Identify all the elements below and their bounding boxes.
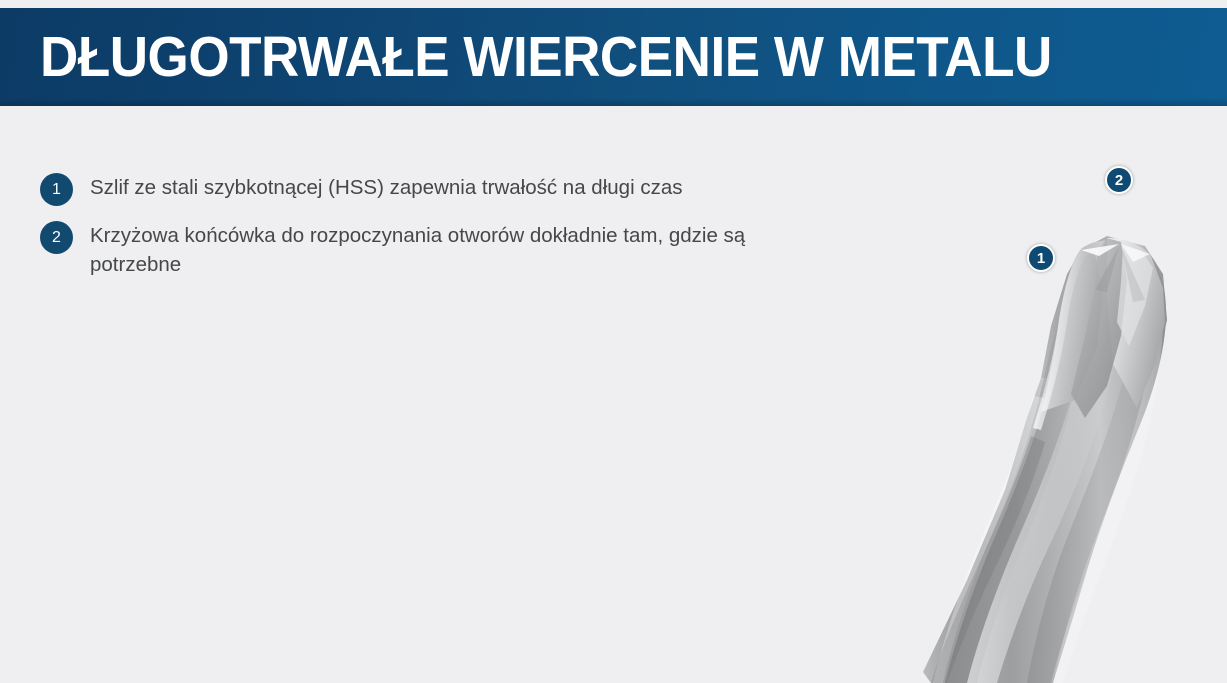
callout-marker-1: 1 <box>1027 244 1055 272</box>
product-feature-banner: DŁUGOTRWAŁE WIERCENIE W METALU 1 Szlif z… <box>0 0 1227 683</box>
callout-marker-2: 2 <box>1105 166 1133 194</box>
list-item: 2 Krzyżowa końcówka do rozpoczynania otw… <box>40 220 760 279</box>
feature-list: 1 Szlif ze stali szybkotnącej (HSS) zape… <box>40 172 760 293</box>
feature-number-badge: 1 <box>40 173 73 206</box>
feature-number-badge: 2 <box>40 221 73 254</box>
drill-bit-illustration <box>845 150 1227 683</box>
list-item: 1 Szlif ze stali szybkotnącej (HSS) zape… <box>40 172 760 206</box>
feature-text: Szlif ze stali szybkotnącej (HSS) zapewn… <box>90 172 682 202</box>
feature-text: Krzyżowa końcówka do rozpoczynania otwor… <box>90 220 750 279</box>
page-title: DŁUGOTRWAŁE WIERCENIE W METALU <box>40 27 1052 87</box>
header-band: DŁUGOTRWAŁE WIERCENIE W METALU <box>0 8 1227 106</box>
